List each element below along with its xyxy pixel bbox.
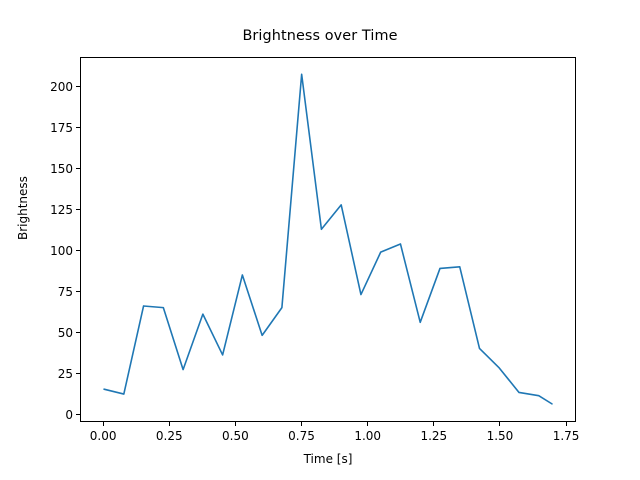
y-tick-label: 0 — [18, 408, 73, 422]
x-tick-mark — [566, 422, 567, 426]
x-tick-label: 0.50 — [222, 429, 249, 443]
page-title: Brightness over Time — [0, 28, 640, 44]
x-tick-mark — [433, 422, 434, 426]
y-tick-label: 175 — [18, 121, 73, 135]
y-tick-label: 150 — [18, 162, 73, 176]
brightness-line — [104, 74, 552, 404]
x-tick-mark — [301, 422, 302, 426]
x-axis-label: Time [s] — [80, 452, 576, 466]
matplotlib-figure: Brightness over Time Brightness Time [s]… — [0, 0, 640, 480]
y-tick-label: 50 — [18, 326, 73, 340]
x-tick-label: 0.25 — [156, 429, 183, 443]
plot-area — [80, 57, 576, 422]
x-tick-mark — [169, 422, 170, 426]
x-tick-mark — [235, 422, 236, 426]
x-tick-mark — [499, 422, 500, 426]
x-tick-mark — [367, 422, 368, 426]
x-tick-label: 0.75 — [288, 429, 315, 443]
x-tick-label: 1.50 — [487, 429, 514, 443]
x-tick-label: 1.75 — [553, 429, 580, 443]
line-series-svg — [81, 58, 575, 421]
y-tick-label: 75 — [18, 285, 73, 299]
x-tick-label: 1.00 — [354, 429, 381, 443]
y-tick-label: 25 — [18, 367, 73, 381]
x-tick-label: 1.25 — [420, 429, 447, 443]
x-tick-label: 0.00 — [90, 429, 117, 443]
y-tick-label: 100 — [18, 244, 73, 258]
y-tick-label: 125 — [18, 203, 73, 217]
y-tick-label: 200 — [18, 80, 73, 94]
x-tick-mark — [103, 422, 104, 426]
